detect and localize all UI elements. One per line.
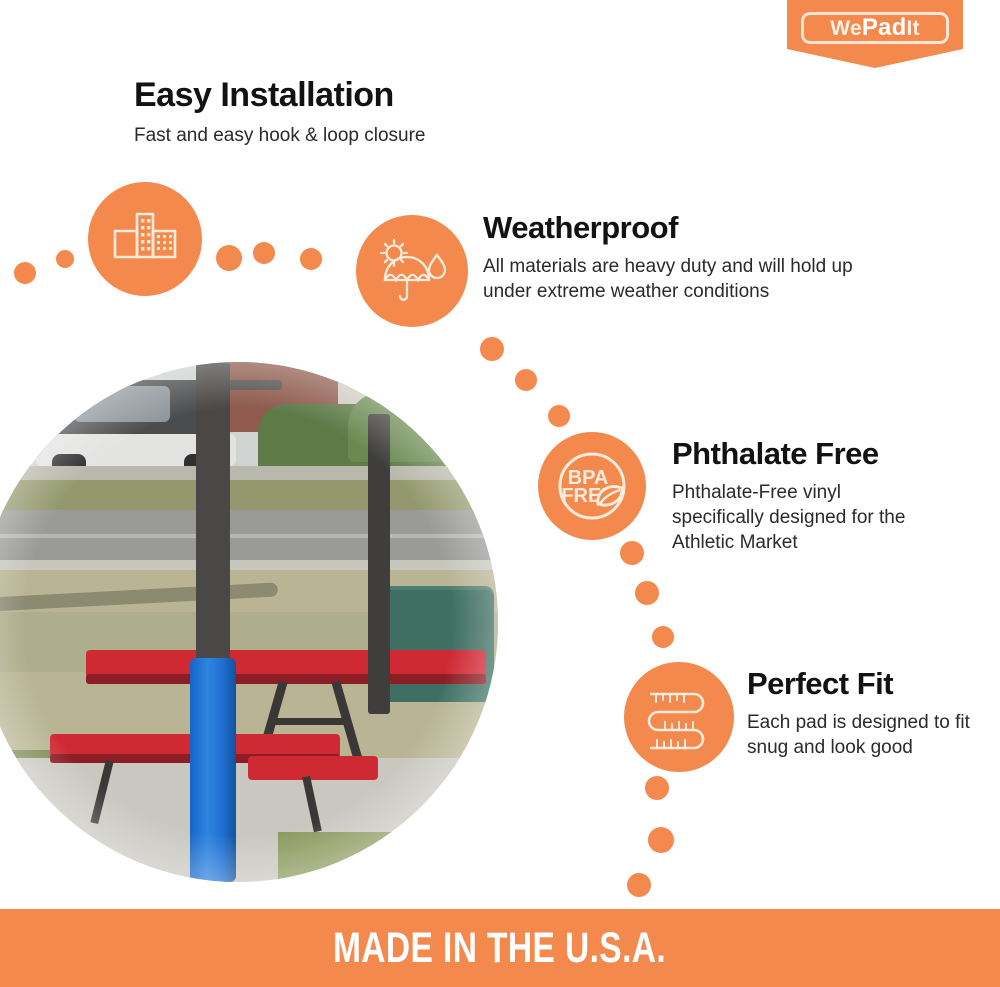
feature-icon-perfect-fit[interactable] [624, 662, 734, 772]
feature-text-easy-installation: Easy Installation Fast and easy hook & l… [134, 78, 426, 148]
photo-vignette [0, 362, 498, 882]
feature-icon-phthalate-free[interactable]: BPA FREE [538, 432, 646, 540]
trail-dot [253, 242, 275, 264]
made-in-usa-banner: MADE IN THE U.S.A. [0, 909, 1000, 987]
feature-icon-weatherproof[interactable] [356, 215, 468, 327]
trail-dot [480, 337, 504, 361]
trail-dot [56, 250, 74, 268]
brand-logo[interactable]: WePadIt [787, 0, 963, 68]
trail-dot [645, 776, 669, 800]
feature-icon-easy-installation[interactable] [88, 182, 202, 296]
product-photo [0, 362, 498, 882]
logo-outline-box: WePadIt [801, 12, 949, 44]
feature-title: Weatherproof [483, 212, 883, 245]
feature-text-perfect-fit: Perfect Fit Each pad is designed to fit … [747, 668, 972, 760]
sun-umbrella-raindrop-icon [375, 238, 449, 304]
logo-text-it: It [906, 17, 919, 40]
feature-text-phthalate-free: Phthalate Free Phthalate-Free vinyl spec… [672, 438, 924, 556]
feature-title: Phthalate Free [672, 438, 924, 471]
trail-dot [548, 405, 570, 427]
feature-description: Phthalate-Free vinyl specifically design… [672, 480, 924, 556]
measuring-tape-icon [641, 679, 717, 755]
feature-text-weatherproof: Weatherproof All materials are heavy dut… [483, 212, 883, 304]
logo-text-pad: Pad [862, 14, 907, 41]
feature-title: Perfect Fit [747, 668, 972, 701]
logo-text-we: We [830, 17, 862, 40]
feature-description: Each pad is designed to fit snug and loo… [747, 710, 972, 761]
trail-dot [515, 369, 537, 391]
trail-dot [620, 541, 644, 565]
infographic-canvas: WePadIt [0, 0, 1000, 987]
trail-dot [300, 248, 322, 270]
feature-title: Easy Installation [134, 78, 426, 114]
trail-dot [652, 626, 674, 648]
trail-dot [216, 245, 242, 271]
trail-dot [648, 827, 674, 853]
trail-dot [627, 873, 651, 897]
logo-wordmark: WePadIt [830, 16, 919, 40]
feature-description: Fast and easy hook & loop closure [134, 123, 426, 148]
building-installation-icon [112, 210, 178, 268]
made-in-usa-text: MADE IN THE U.S.A. [333, 924, 666, 973]
trail-dot [635, 581, 659, 605]
feature-description: All materials are heavy duty and will ho… [483, 254, 883, 305]
trail-dot [14, 262, 36, 284]
bpa-free-leaf-icon: BPA FREE [548, 442, 636, 530]
